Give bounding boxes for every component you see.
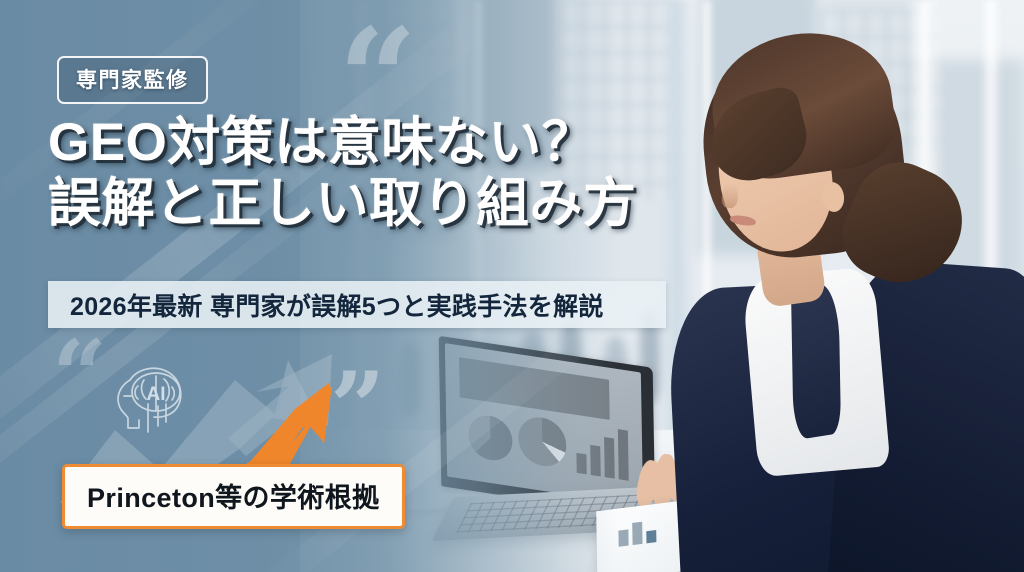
businesswoman-figure <box>672 34 1024 572</box>
report-bar <box>632 522 642 545</box>
badge-academic-basis: Princeton等の学術根拠 <box>62 464 405 529</box>
badge-expert-supervised: 専門家監修 <box>57 56 208 104</box>
page-title: GEO対策は意味ない？ 誤解と正しい取り組み方 <box>48 112 708 235</box>
report-bar <box>646 530 656 543</box>
ai-label: AI <box>147 384 166 405</box>
title-line-2: 誤解と正しい取り組み方 <box>48 173 708 234</box>
title-line-1: GEO対策は意味ない？ <box>48 113 595 172</box>
subtitle-band: 2026年最新 専門家が誤解5つと実践手法を解説 <box>48 281 666 328</box>
ai-brain-icon: AI <box>108 356 194 440</box>
subtitle-text: 2026年最新 専門家が誤解5つと実践手法を解説 <box>48 287 604 323</box>
hero-banner: “ “ ” AI 専門家監修 GEO対策は意味ない？ 誤解と正しい取 <box>0 0 1024 572</box>
blazer-lapel <box>791 282 841 441</box>
